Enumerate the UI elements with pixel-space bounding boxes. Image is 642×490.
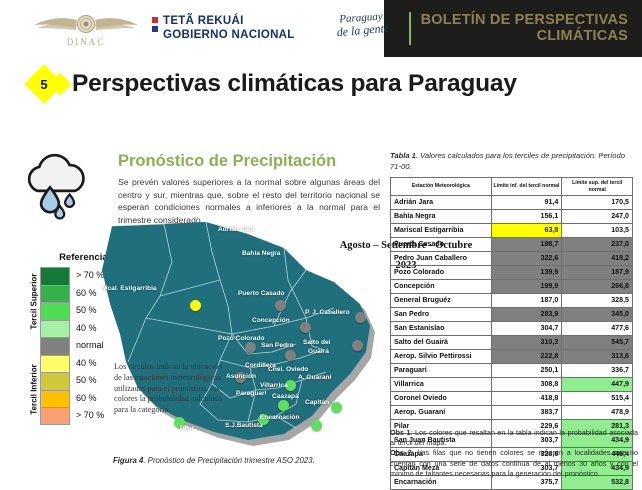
th-upper-limit: Límite sup. del tercil normal: [562, 178, 633, 196]
map-label-17: Capitán: [305, 399, 329, 406]
map-label-19: S.J.Bautista: [225, 422, 263, 429]
cell-station: Mariscal Estigarribia: [391, 224, 492, 238]
cell-lower-limit: 308,8: [491, 378, 562, 392]
cell-station: Villarrica: [391, 378, 492, 392]
cell-upper-limit: 418,2: [562, 252, 633, 266]
table-row: San Estanislao304,7477,6: [391, 322, 633, 336]
cell-upper-limit: 478,9: [562, 406, 633, 420]
badge-number: 5: [30, 70, 58, 98]
legend-axis-labels: Tercil Superior Tercil Inferior: [24, 267, 40, 425]
station-dot-4[interactable]: [245, 342, 256, 353]
table-row: Puerto Casado198,7237,0: [391, 238, 633, 252]
table-row: Salto del Guairá310,2545,7: [391, 336, 633, 350]
station-dot-12[interactable]: [311, 420, 322, 431]
cell-upper-limit: 103,5: [562, 224, 633, 238]
cell-lower-limit: 310,2: [491, 336, 562, 350]
cell-lower-limit: 383,7: [491, 406, 562, 420]
blue-square-icon: [152, 26, 158, 32]
cell-lower-limit: 304,7: [491, 322, 562, 336]
cell-upper-limit: 237,0: [562, 238, 633, 252]
map-label-11: Asunción: [226, 373, 256, 380]
page-header: DINAC TETÃ REKUÁI GOBIERNO NACIONAL Para…: [0, 0, 642, 57]
legend-axis-top: Tercil Superior: [30, 274, 39, 330]
map-label-7: San Pedro: [261, 342, 294, 349]
map-label-0: Adrián Jara: [218, 226, 254, 233]
cell-upper-limit: 515,4: [562, 392, 633, 406]
cell-station: General Bruguéz: [391, 294, 492, 308]
th-station: Estación Meteorológica: [391, 178, 492, 196]
map-label-20: Pilar: [180, 425, 194, 432]
th-lower-limit: Límite inf. del tercil normal: [491, 178, 562, 196]
map-label-5: Concepción: [252, 317, 290, 324]
table-row: Mariscal Estigarribia63,8103,5: [391, 224, 633, 238]
table-row: Aerop. Silvio Pettirossi222,8313,6: [391, 350, 633, 364]
cell-station: Pozo Colorado: [391, 266, 492, 280]
station-dot-2[interactable]: [355, 312, 366, 323]
cell-lower-limit: 199,9: [491, 280, 562, 294]
table-row: Bahía Negra156,1247,0: [391, 210, 633, 224]
table-row: Paraguarí250,1336,7: [391, 364, 633, 378]
rain-cloud-icon: [18, 150, 98, 230]
map-label-12: Cnel. Oviedo: [268, 366, 308, 373]
map-label-14: Villarrica: [260, 382, 288, 389]
figure-caption-bold: Figura 4: [113, 456, 143, 465]
cell-lower-limit: 63,8: [491, 224, 562, 238]
cell-lower-limit: 283,9: [491, 308, 562, 322]
cell-station: Puerto Casado: [391, 238, 492, 252]
legend-swatches: [40, 267, 70, 425]
cell-station: Coronel Oviedo: [391, 392, 492, 406]
table-row: San Pedro283,9345,0: [391, 308, 633, 322]
cell-lower-limit: 91,4: [491, 196, 562, 210]
obs2-text: : Las filas que no tienen colores se ref…: [390, 448, 638, 477]
legend-swatch-0: [40, 267, 70, 285]
station-dot-10[interactable]: [331, 402, 342, 413]
cell-upper-limit: 345,0: [562, 308, 633, 322]
table-row: Pozo Colorado139,9187,9: [391, 266, 633, 280]
cell-station: San Estanislao: [391, 322, 492, 336]
cell-station: San Pedro: [391, 308, 492, 322]
paraguay-de-la-gente-logo: Paraguay de la gente: [322, 12, 400, 38]
obs1-label: Obs 1: [390, 428, 411, 437]
map-label-1: Bahía Negra: [242, 250, 280, 257]
table-row: Pedro Juan Caballero322,6418,2: [391, 252, 633, 266]
cell-station: Pedro Juan Caballero: [391, 252, 492, 266]
cell-station: Aerop. Guaraní: [391, 406, 492, 420]
station-dot-5[interactable]: [285, 350, 296, 361]
cell-upper-limit: 328,5: [562, 294, 633, 308]
cell-upper-limit: 477,6: [562, 322, 633, 336]
legend-swatch-1: [40, 285, 70, 303]
table-row: Villarrica308,8447,9: [391, 378, 633, 392]
legend-swatch-3: [40, 320, 70, 338]
station-dot-9[interactable]: [278, 400, 289, 411]
dinac-label: DINAC: [67, 37, 106, 47]
cell-lower-limit: 187,0: [491, 294, 562, 308]
cell-upper-limit: 313,6: [562, 350, 633, 364]
cell-lower-limit: 250,1: [491, 364, 562, 378]
red-square-icon: [152, 17, 158, 23]
table-caption-rest: . Valores calculados para los terciles d…: [390, 151, 625, 171]
map-circles-note: Los círculos indican la ubicación de las…: [114, 362, 226, 416]
gov-line-1: TETÃ REKUÁI: [163, 14, 295, 28]
map-label-8: Salto del: [303, 339, 330, 346]
table-caption-bold: Tabla 1: [390, 151, 416, 160]
cell-lower-limit: 418,8: [491, 392, 562, 406]
table-caption: Tabla 1. Valores calculados para los ter…: [390, 150, 638, 172]
page-title-row: 5 Perspectivas climáticas para Paraguay: [0, 62, 642, 106]
map-label-3: Puerto Casado: [238, 290, 285, 297]
cell-lower-limit: 139,9: [491, 266, 562, 280]
map-label-6: Pozo Colorado: [218, 335, 265, 342]
gov-squares: [152, 14, 158, 32]
table-observations: Obs 1: Los colores que resaltan en la ta…: [390, 428, 638, 479]
table-row: Aerop. Guaraní383,7478,9: [391, 406, 633, 420]
map-label-18: Encarnación: [260, 414, 300, 421]
legend-swatch-8: [40, 407, 70, 425]
cell-station: Salto del Guairá: [391, 336, 492, 350]
map-label-13: A. Guaraní: [298, 374, 331, 381]
cell-station: Adrián Jara: [391, 196, 492, 210]
precipitation-body: Se prevén valores superiores a la normal…: [118, 176, 380, 227]
table-row: Concepción199,9266,8: [391, 280, 633, 294]
cell-lower-limit: 156,1: [491, 210, 562, 224]
page-title: Perspectivas climáticas para Paraguay: [72, 70, 517, 98]
figure-caption: Figura 4. Pronóstico de Precipitación tr…: [113, 456, 393, 465]
precipitation-heading: Pronóstico de Precipitación: [118, 152, 336, 171]
table-header-row: Estación Meteorológica Límite inf. del t…: [391, 178, 633, 196]
station-dot-3[interactable]: [300, 322, 311, 333]
legend-swatch-7: [40, 390, 70, 408]
cell-lower-limit: 222,8: [491, 350, 562, 364]
cell-upper-limit: 187,9: [562, 266, 633, 280]
cell-lower-limit: 322,6: [491, 252, 562, 266]
cell-upper-limit: 447,9: [562, 378, 633, 392]
boletin-title: BOLETÍN DE PERSPECTIVAS CLIMÁTICAS: [398, 12, 628, 44]
table-row: General Bruguéz187,0328,5: [391, 294, 633, 308]
table-row: Coronel Oviedo418,8515,4: [391, 392, 633, 406]
section-badge: 5: [22, 64, 80, 104]
cell-station: Aerop. Silvio Pettirossi: [391, 350, 492, 364]
legend-swatch-6: [40, 372, 70, 390]
legend-swatch-5: [40, 355, 70, 373]
legend-swatch-2: [40, 302, 70, 320]
dinac-logo: DINAC: [22, 4, 150, 54]
cell-station: Bahía Negra: [391, 210, 492, 224]
legend-swatch-4: [40, 337, 70, 355]
dinac-wings-icon: [31, 11, 141, 39]
cell-upper-limit: 247,0: [562, 210, 633, 224]
cell-upper-limit: 545,7: [562, 336, 633, 350]
paraguay-forecast-map[interactable]: Agosto – Setiembre - Octubre 2023 Adrián…: [100, 222, 390, 454]
cell-lower-limit: 198,7: [491, 238, 562, 252]
cell-upper-limit: 336,7: [562, 364, 633, 378]
gov-line-2: GOBIERNO NACIONAL: [163, 28, 295, 42]
map-label-2: Mcal. Estigarribia: [102, 285, 157, 292]
station-dot-6[interactable]: [352, 340, 363, 351]
legend-axis-bottom: Tercil Inferior: [30, 362, 39, 418]
table-row: Adrián Jara91,4170,5: [391, 196, 633, 210]
cell-station: Paraguarí: [391, 364, 492, 378]
map-label-4: P. J. Caballero: [305, 309, 350, 316]
map-label-9: Guairá: [308, 348, 329, 355]
figure-caption-rest: . Pronóstico de Precipitación trimestre …: [143, 456, 314, 465]
obs1-text: : Los colores que resaltan en la tabla i…: [390, 428, 638, 447]
map-label-16: Caazapá: [272, 393, 299, 400]
obs2-label: Obs 2: [390, 448, 412, 457]
gobierno-nacional-logo: TETÃ REKUÁI GOBIERNO NACIONAL: [152, 14, 295, 42]
station-dot-1[interactable]: [275, 300, 286, 311]
cell-upper-limit: 266,8: [562, 280, 633, 294]
cell-upper-limit: 170,5: [562, 196, 633, 210]
station-dot-0[interactable]: [190, 300, 201, 311]
map-label-15: Paraguarí: [236, 390, 266, 397]
cell-station: Concepción: [391, 280, 492, 294]
